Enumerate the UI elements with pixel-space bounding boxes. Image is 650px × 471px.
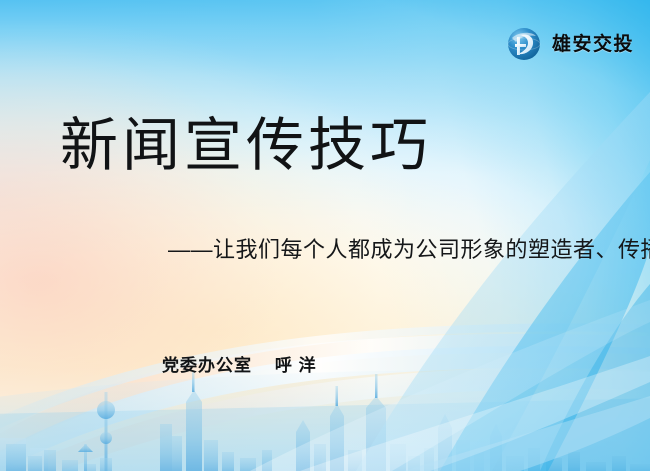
bottom-wash: [0, 370, 650, 471]
brand-logo: 雄安交投: [504, 24, 634, 64]
page-subtitle: ——让我们每个人都成为公司形象的塑造者、传播者: [168, 236, 650, 264]
city-skyline-main: [6, 372, 650, 471]
city-skyline-silhouette-icon: [0, 438, 560, 471]
author-byline: 党委办公室 呼 洋: [162, 356, 317, 376]
title-slide: 雄安交投 新闻宣传技巧 ——让我们每个人都成为公司形象的塑造者、传播者 党委办公…: [0, 0, 650, 471]
ribbon-group: [0, 323, 650, 471]
xiongan-jiaotou-globe-logo-icon: [504, 24, 544, 64]
page-title: 新闻宣传技巧: [60, 112, 432, 180]
brand-name: 雄安交投: [552, 35, 634, 54]
